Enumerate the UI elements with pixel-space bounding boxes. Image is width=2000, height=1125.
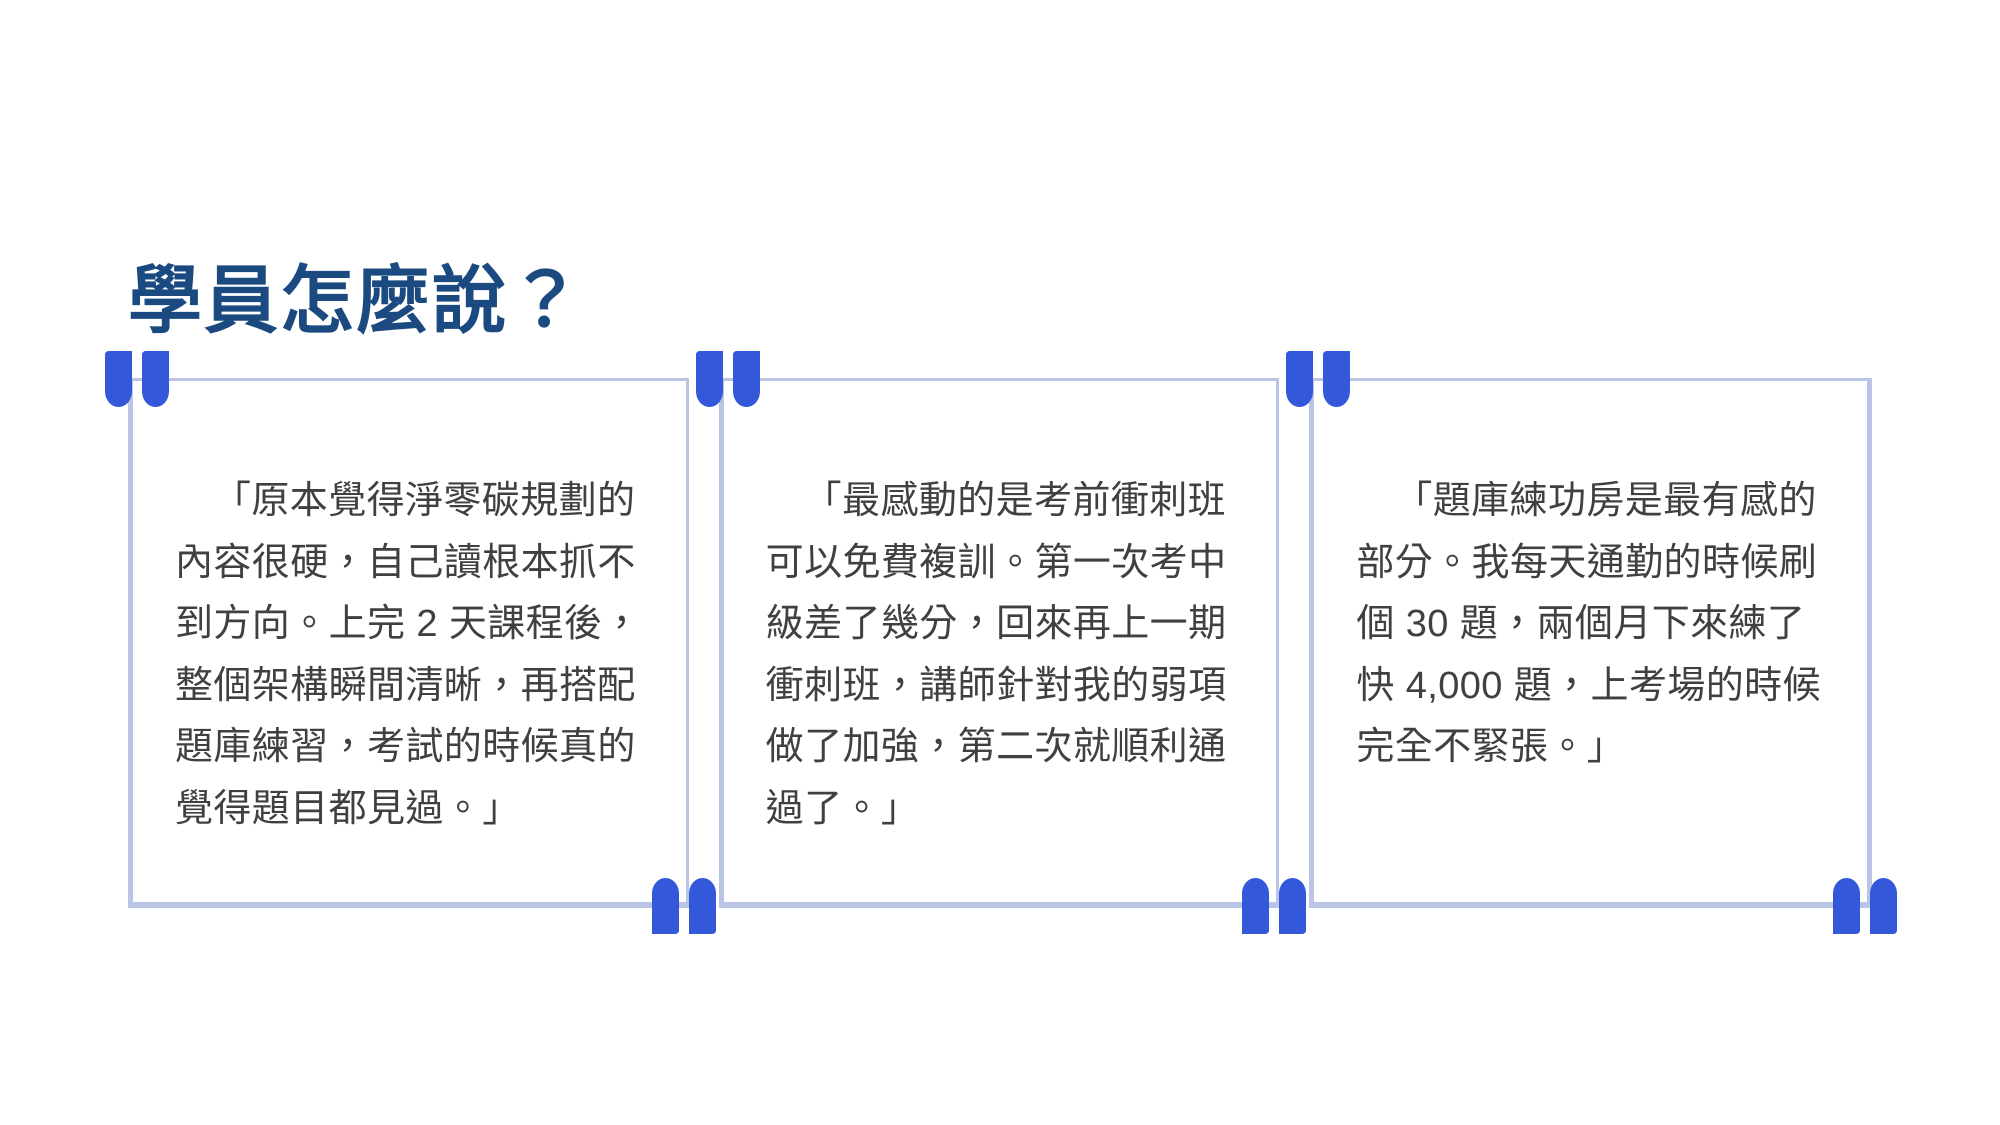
testimonial-card[interactable]: 「題庫練功房是最有感的部分。我每天通勤的時候刷個 30 題，兩個月下來練了快 4… bbox=[1309, 378, 1872, 908]
testimonial-text: 「題庫練功房是最有感的部分。我每天通勤的時候刷個 30 題，兩個月下來練了快 4… bbox=[1356, 471, 1841, 779]
quote-close-icon bbox=[1831, 878, 1897, 934]
testimonial-card[interactable]: 「最感動的是考前衝刺班可以免費複訓。第一次考中級差了幾分，回來再上一期衝刺班，講… bbox=[719, 378, 1280, 908]
quote-close-icon bbox=[650, 878, 716, 934]
testimonials-card-row: 「原本覺得淨零碳規劃的內容很硬，自己讀根本抓不到方向。上完 2 天課程後，整個架… bbox=[128, 378, 1872, 908]
page-title: 學員怎麼說？ bbox=[128, 258, 584, 343]
testimonial-card[interactable]: 「原本覺得淨零碳規劃的內容很硬，自己讀根本抓不到方向。上完 2 天課程後，整個架… bbox=[128, 378, 689, 908]
quote-open-icon bbox=[105, 351, 171, 407]
quote-open-icon bbox=[1286, 351, 1352, 407]
testimonial-text: 「最感動的是考前衝刺班可以免費複訓。第一次考中級差了幾分，回來再上一期衝刺班，講… bbox=[766, 471, 1251, 840]
quote-open-icon bbox=[696, 351, 762, 407]
testimonial-text: 「原本覺得淨零碳規劃的內容很硬，自己讀根本抓不到方向。上完 2 天課程後，整個架… bbox=[175, 471, 660, 840]
testimonials-slide: 學員怎麼說？ 「原本覺得淨零碳規劃的內容很硬，自己讀根本抓不到方向。上完 2 天… bbox=[0, 0, 2000, 1125]
quote-close-icon bbox=[1240, 878, 1306, 934]
